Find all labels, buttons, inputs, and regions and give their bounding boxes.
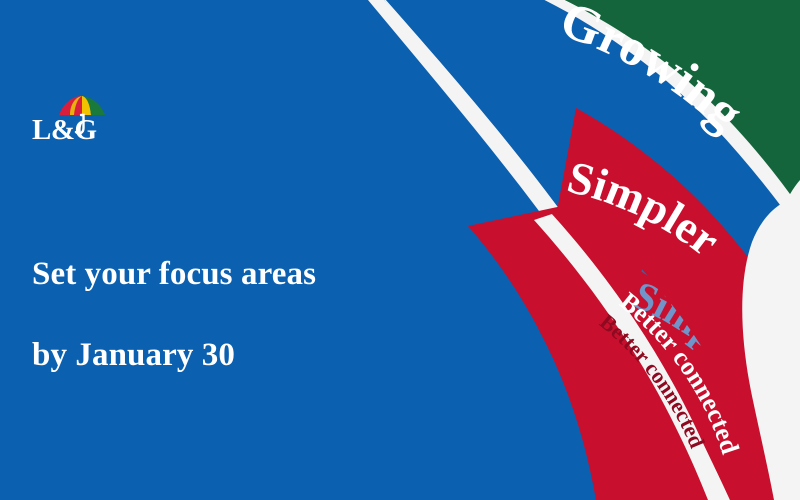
slide-canvas: Simpler Simpler Simpler Simpler Simpler … (0, 0, 800, 500)
headline-line-1: Set your focus areas (32, 254, 316, 294)
page-title: Set your focus areas by January 30 (32, 214, 316, 415)
lg-wordmark: L&G (32, 116, 97, 145)
lg-logo[interactable]: L&G (32, 90, 152, 150)
headline-line-2: by January 30 (32, 335, 316, 375)
